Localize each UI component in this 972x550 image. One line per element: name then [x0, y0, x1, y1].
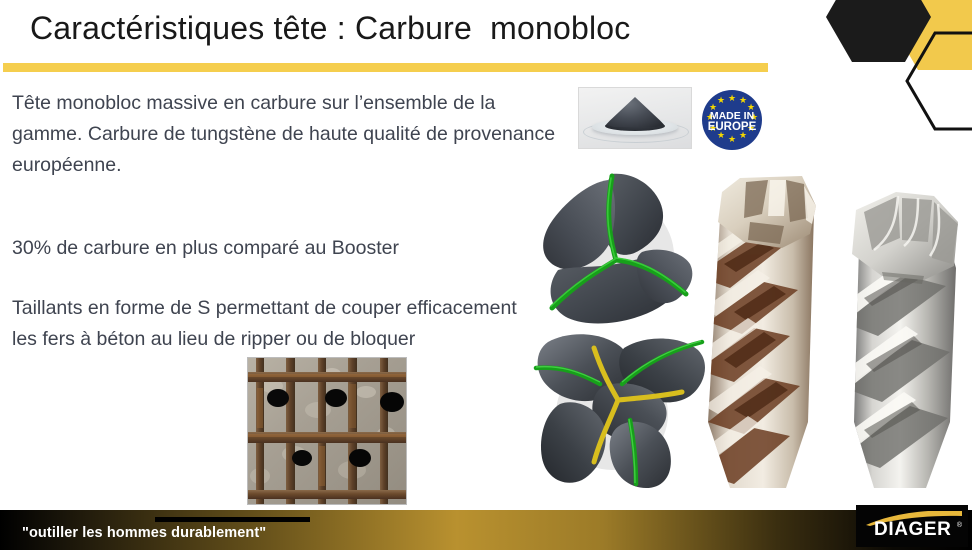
used-drill-bit-image: [690, 172, 822, 492]
logo-registered-mark: ®: [957, 522, 962, 529]
page-title: Caractéristiques tête : Carbure monobloc: [30, 10, 750, 47]
body-paragraph-2: 30% de carbure en plus comparé au Booste…: [12, 233, 557, 264]
footer-black-stripe: [155, 517, 310, 522]
hole-5: [349, 449, 371, 467]
carbide-powder-image: [578, 87, 692, 149]
rebar-concrete-image: [247, 357, 407, 505]
hexagon-decoration: [800, 0, 972, 160]
hole-3: [380, 392, 404, 412]
footer-bar: "outiller les hommes durablement" DIAGER…: [0, 510, 972, 550]
head-body-lower-left: [541, 402, 606, 483]
powder-cone: [606, 97, 664, 127]
new-drill-bit-image: [838, 172, 966, 492]
diager-logo: DIAGER ®: [856, 505, 968, 547]
svg-text:★: ★: [739, 96, 747, 106]
carbide-head-mixed-render: [518, 322, 714, 488]
slide-canvas: Caractéristiques tête : Carbure monobloc…: [0, 0, 972, 550]
badge-line-2: EUROPE: [708, 121, 757, 133]
hole-4: [292, 450, 312, 466]
hole-1: [267, 389, 289, 407]
svg-text:★: ★: [728, 94, 736, 104]
made-in-europe-badge: ★ ★ ★ ★ ★ ★ ★ ★ ★ ★ ★ ★ MADE IN EUROPE: [700, 88, 764, 152]
carbide-head-green-render: [520, 168, 706, 334]
svg-text:★: ★: [728, 135, 736, 145]
logo-wordmark: DIAGER: [874, 519, 952, 541]
hole-2: [325, 389, 347, 407]
body-paragraph-1: Tête monobloc massive en carbure sur l’e…: [12, 88, 557, 181]
body-paragraph-3: Taillants en forme de S permettant de co…: [12, 293, 542, 355]
title-underline-rule: [3, 63, 768, 72]
footer-tagline: "outiller les hommes durablement": [22, 525, 266, 541]
svg-text:★: ★: [717, 96, 725, 106]
